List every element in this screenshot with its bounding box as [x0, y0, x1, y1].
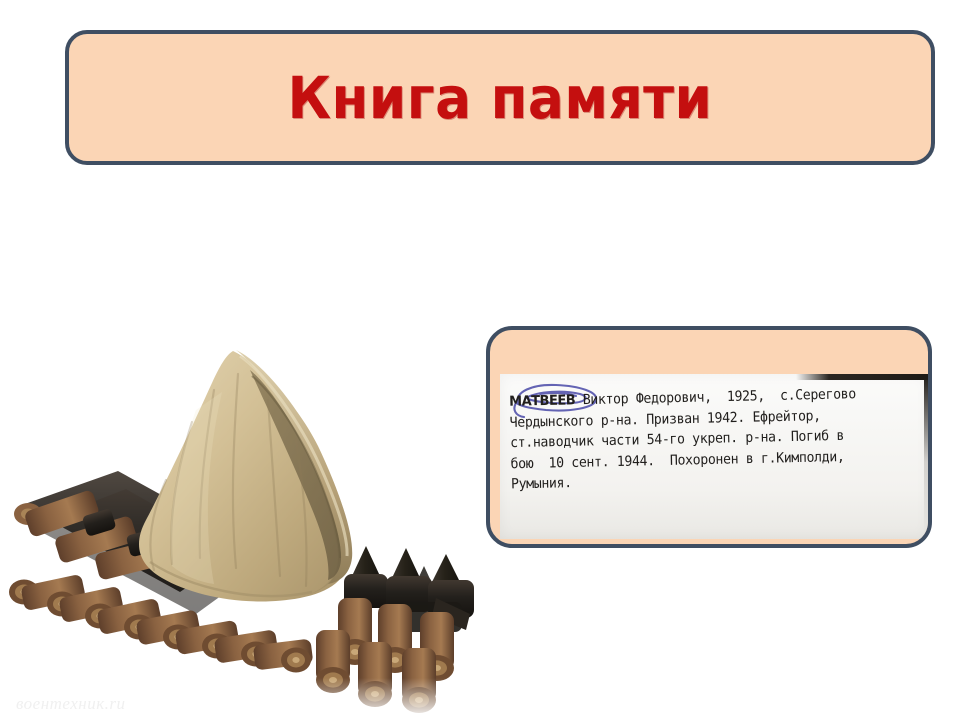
scan-entry-text: МАТВЕЕВ Виктор Федорович, 1925, с.Серего…: [509, 383, 923, 495]
slide-canvas: Книга памяти: [0, 0, 960, 720]
scanned-page: МАТВЕЕВ Виктор Федорович, 1925, с.Серего…: [500, 374, 928, 539]
page-title: Книга памяти: [288, 69, 713, 127]
scan-surname: МАТВЕЕВ: [509, 393, 575, 410]
pilotka-photo: воентехник.ru: [0, 330, 500, 720]
photo-watermark: воентехник.ru: [16, 694, 126, 714]
title-banner: Книга памяти: [65, 30, 935, 165]
pilotka-illustration: [0, 330, 500, 720]
scan-right-edge: [924, 374, 928, 534]
memory-record-card: МАТВЕЕВ Виктор Федорович, 1925, с.Серего…: [486, 326, 932, 548]
scan-top-edge: [796, 374, 928, 380]
